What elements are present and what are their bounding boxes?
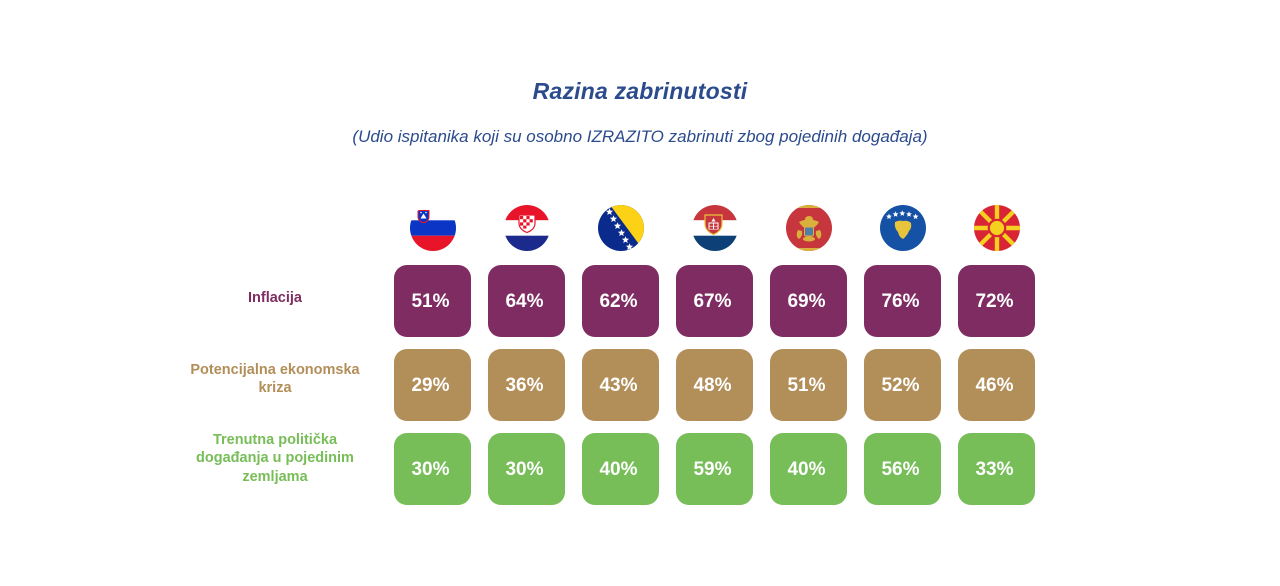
row-label-political-events: Trenutna politička događanja u pojedinim… [185,431,365,486]
value-text: 40% [787,460,825,479]
value-cell: 56% [864,433,941,505]
value-cell: 69% [770,265,847,337]
value-text: 33% [975,460,1013,479]
flag-cell-slovenija [394,200,471,256]
value-text: 43% [599,376,637,395]
page-title: Razina zabrinutosti [0,78,1280,105]
value-text: 36% [505,376,543,395]
value-text: 48% [693,376,731,395]
value-cell: 29% [394,349,471,421]
value-cell: 67% [676,265,753,337]
infographic-page: Razina zabrinutosti (Udio ispitanika koj… [0,0,1280,586]
value-cell: 33% [958,433,1035,505]
value-text: 40% [599,460,637,479]
value-text: 59% [693,460,731,479]
value-text: 51% [411,292,449,311]
flag-kosovo-icon [880,205,926,251]
flag-cell-sjeverna-makedonija [958,200,1035,256]
flag-cell-srbija [676,200,753,256]
value-cell: 40% [770,433,847,505]
value-cell: 46% [958,349,1035,421]
value-text: 30% [505,460,543,479]
value-cell: 43% [582,349,659,421]
value-cell: 59% [676,433,753,505]
flag-serbia-icon [692,205,738,251]
value-cell: 52% [864,349,941,421]
flag-slovenia-icon [410,205,456,251]
value-cell: 36% [488,349,565,421]
flag-cell-kosovo [864,200,941,256]
value-cell: 64% [488,265,565,337]
value-text: 46% [975,376,1013,395]
value-cell: 51% [770,349,847,421]
flag-croatia-icon [504,205,550,251]
value-cell: 76% [864,265,941,337]
value-text: 76% [881,292,919,311]
value-cell: 51% [394,265,471,337]
value-cell: 72% [958,265,1035,337]
row-label-economic-crisis: Potencijalna ekonomska kriza [185,361,365,398]
flag-cell-hrvatska [488,200,565,256]
value-text: 51% [787,376,825,395]
value-text: 56% [881,460,919,479]
flag-cell-crna-gora [770,200,847,256]
value-text: 72% [975,292,1013,311]
value-text: 62% [599,292,637,311]
flag-montenegro-icon [786,205,832,251]
value-text: 29% [411,376,449,395]
value-text: 64% [505,292,543,311]
value-text: 52% [881,376,919,395]
row-label-inflation: Inflacija [185,289,365,307]
value-text: 69% [787,292,825,311]
value-cell: 48% [676,349,753,421]
value-text: 30% [411,460,449,479]
value-cell: 40% [582,433,659,505]
value-cell: 62% [582,265,659,337]
flag-cell-bosna-i-hercegovina [582,200,659,256]
value-cell: 30% [488,433,565,505]
value-cell: 30% [394,433,471,505]
flag-bosnia-herzegovina-icon [598,205,644,251]
page-subtitle: (Udio ispitanika koji su osobno IZRAZITO… [0,127,1280,147]
flag-north-macedonia-icon [974,205,1020,251]
value-text: 67% [693,292,731,311]
